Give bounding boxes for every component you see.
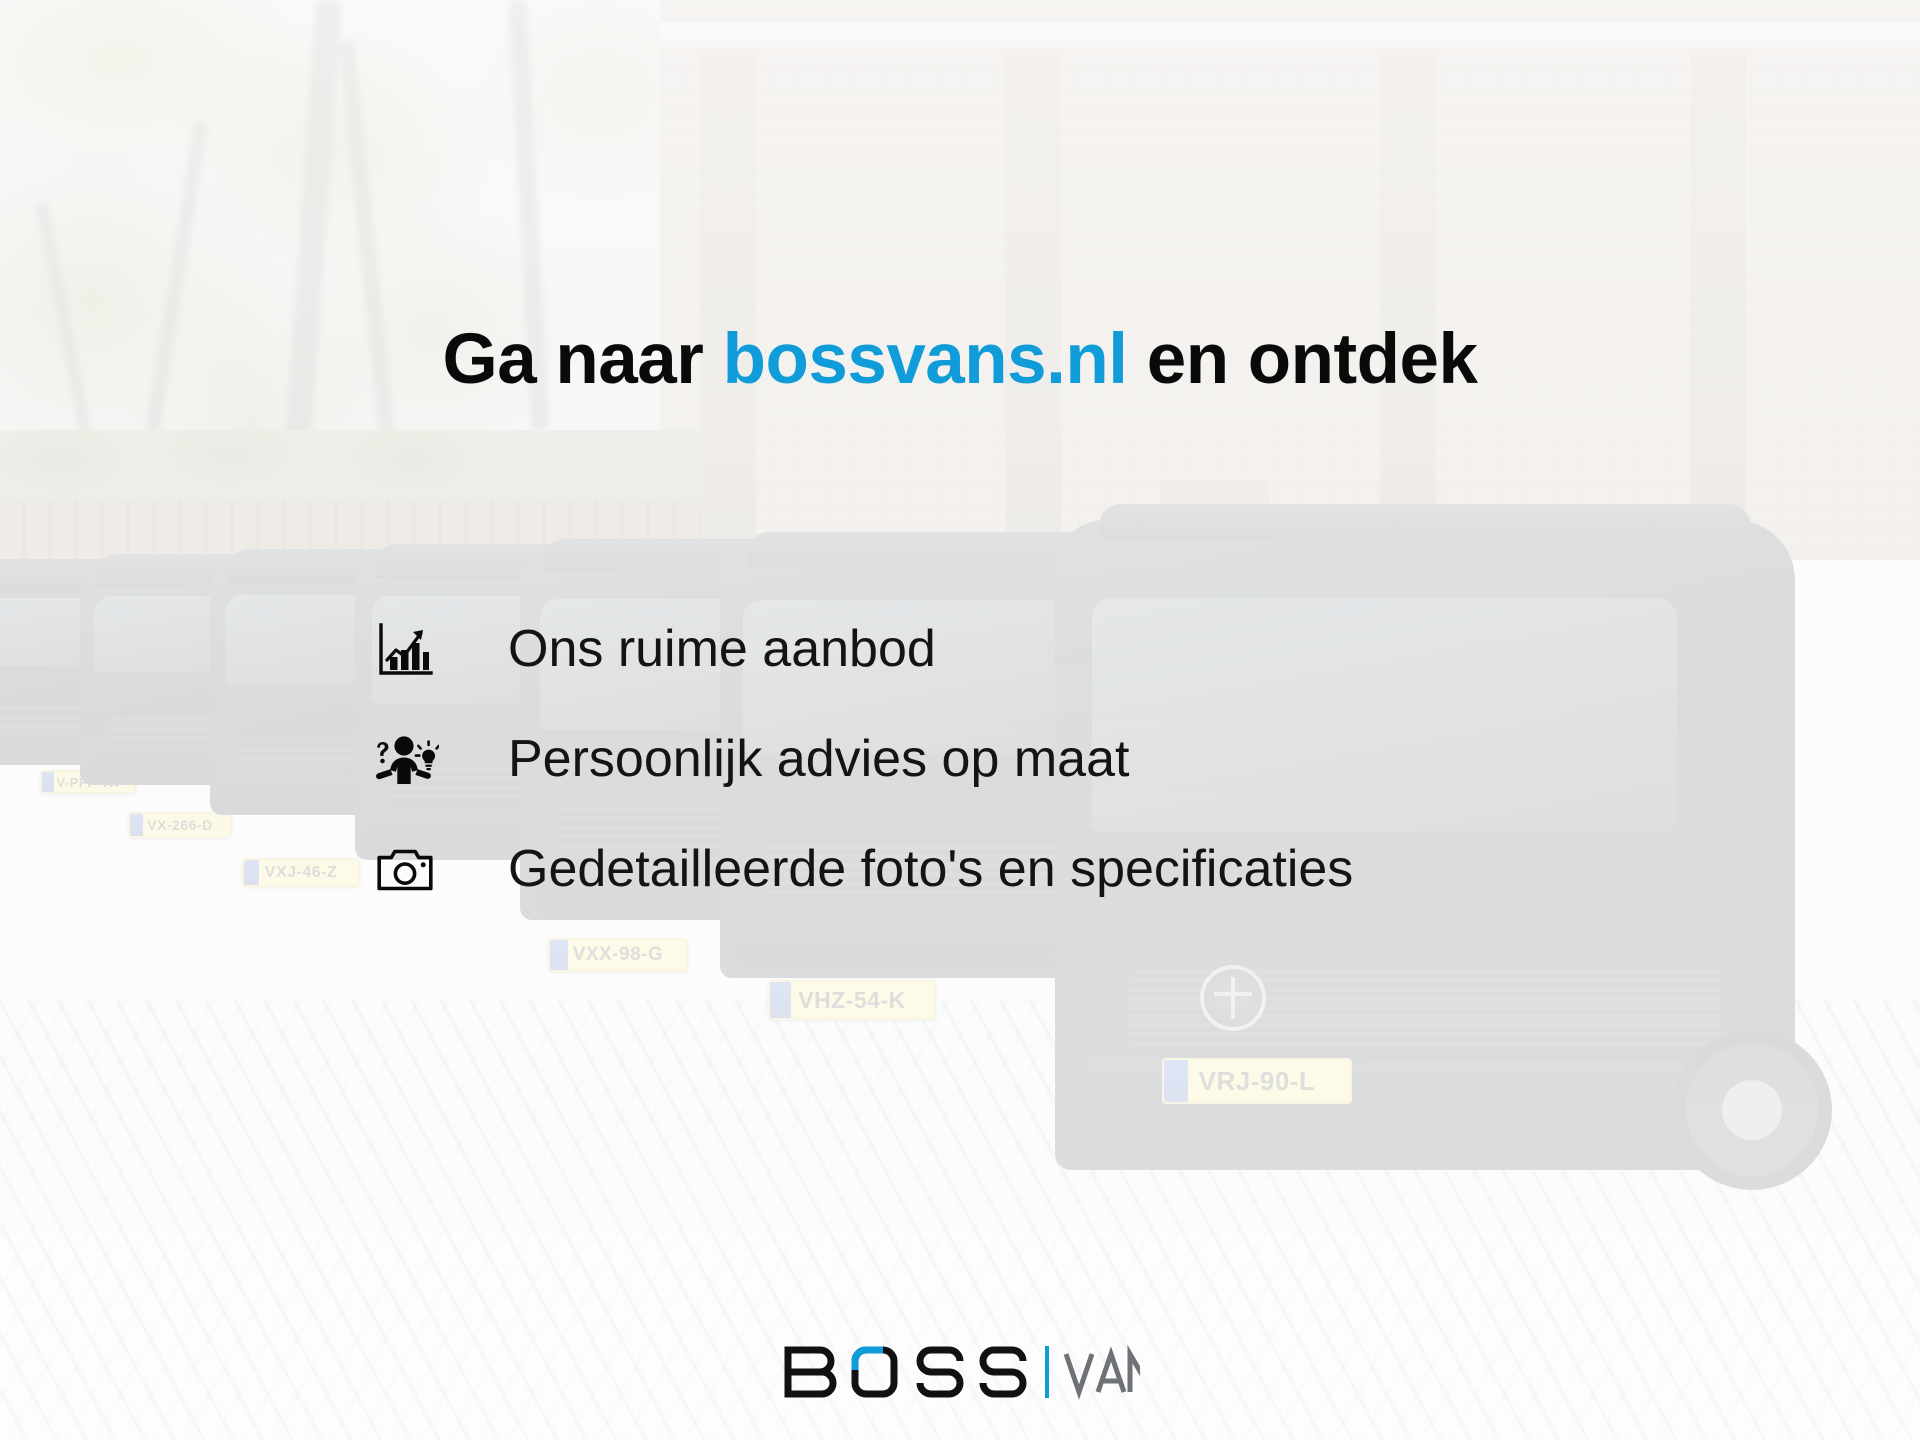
slide-content: Ga naar bossvans.nl en ontdek xyxy=(0,0,1920,1440)
feature-list: Ons ruime aanbod xyxy=(370,612,1353,908)
logo-vans-wordmark xyxy=(1066,1354,1130,1392)
camera-icon xyxy=(370,839,440,901)
page-title: Ga naar bossvans.nl en ontdek xyxy=(0,322,1920,397)
headline-after: en ontdek xyxy=(1127,320,1477,399)
boss-vans-logo: BOSS | VANS xyxy=(0,1340,1920,1404)
logo-blue-accent xyxy=(855,1350,883,1370)
headline-before: Ga naar xyxy=(442,320,722,399)
promo-slide: V-PFF-VN VX-266-D VXJ-46-Z VXX-9 xyxy=(0,0,1920,1440)
logo-boss-wordmark xyxy=(788,1350,1023,1394)
logo-vans-wordmark-2 xyxy=(1130,1354,1140,1392)
advice-person-lightbulb-icon xyxy=(370,729,440,791)
list-item-label: Ons ruime aanbod xyxy=(508,621,936,678)
headline-brand-domain: bossvans.nl xyxy=(723,320,1128,399)
list-item-label: Gedetailleerde foto's en specificaties xyxy=(508,841,1353,898)
list-item: Persoonlijk advies op maat xyxy=(370,722,1353,798)
list-item: Gedetailleerde foto's en specificaties xyxy=(370,832,1353,908)
logo-svg xyxy=(780,1340,1140,1404)
list-item: Ons ruime aanbod xyxy=(370,612,1353,688)
bar-chart-trend-icon xyxy=(370,619,440,681)
logo-divider xyxy=(1045,1346,1049,1398)
list-item-label: Persoonlijk advies op maat xyxy=(508,731,1129,788)
